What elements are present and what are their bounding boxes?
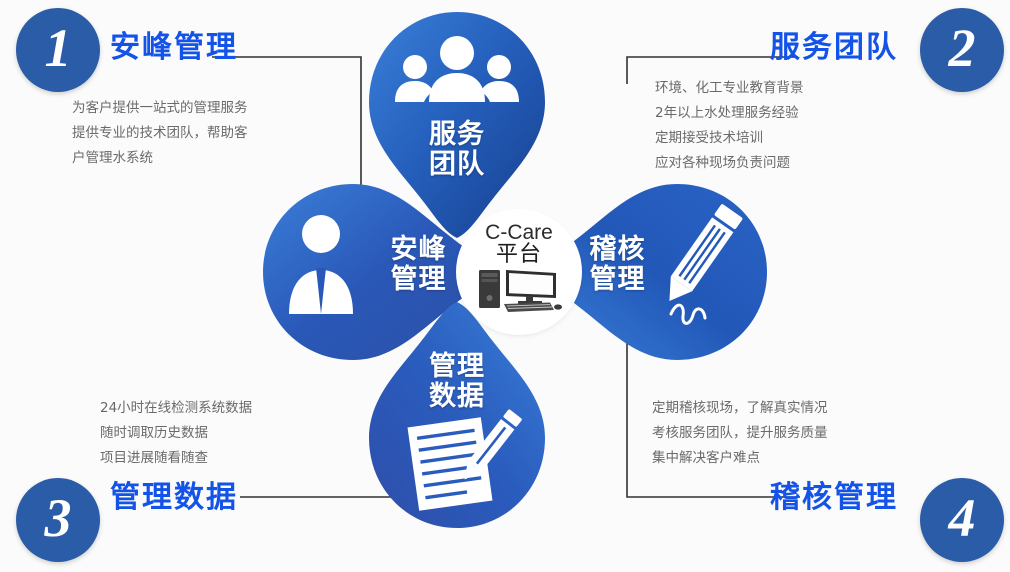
description-line: 考核服务团队，提升服务质量 [652, 421, 828, 446]
petal-label-audit-manage: 稽核 管理 [565, 235, 670, 295]
quadrant-description-1: 为客户提供一站式的管理服务 提供专业的技术团队，帮助客 户管理水系统 [72, 96, 248, 171]
petal-label-line2: 管理 [366, 265, 471, 295]
description-line: 项目进展随看随查 [100, 446, 252, 471]
quadrant-badge-number-2: 2 [949, 21, 976, 75]
quadrant-title-4: 稽核管理 [770, 472, 898, 516]
description-line: 环境、化工专业教育背景 [655, 76, 804, 101]
quadrant-badge-number-3: 3 [45, 491, 72, 545]
center-hub[interactable]: C-Care 平台 [460, 213, 578, 331]
description-line: 集中解决客户难点 [652, 446, 828, 471]
quadrant-badge-2[interactable]: 2 [920, 8, 1004, 92]
description-line: 定期稽核现场，了解真实情况 [652, 396, 828, 421]
quadrant-badge-number-1: 1 [45, 21, 72, 75]
quadrant-badge-3[interactable]: 3 [16, 478, 100, 562]
description-line: 户管理水系统 [72, 146, 248, 171]
hub-subtitle: 平台 [496, 243, 542, 266]
quadrant-badge-1[interactable]: 1 [16, 8, 100, 92]
petal-label-line2: 团队 [367, 150, 547, 180]
infographic-canvas: 服务 团队 [0, 0, 1010, 572]
description-line: 2年以上水处理服务经验 [655, 101, 804, 126]
petal-label-line1: 稽核 [565, 235, 670, 265]
description-line: 提供专业的技术团队，帮助客 [72, 121, 248, 146]
description-line: 应对各种现场负责问题 [655, 151, 804, 176]
quadrant-badge-number-4: 4 [949, 491, 976, 545]
petal-label-line1: 安峰 [366, 235, 471, 265]
petal-label-service-team: 服务 团队 [367, 120, 547, 180]
quadrant-description-4: 定期稽核现场，了解真实情况 考核服务团队，提升服务质量 集中解决客户难点 [652, 396, 828, 471]
quadrant-description-2: 环境、化工专业教育背景 2年以上水处理服务经验 定期接受技术培训 应对各种现场负… [655, 76, 804, 176]
petal-label-line1: 服务 [367, 120, 547, 150]
description-line: 为客户提供一站式的管理服务 [72, 96, 248, 121]
description-line: 随时调取历史数据 [100, 421, 252, 446]
petal-label-line2: 管理 [565, 265, 670, 295]
petal-label-manage-data: 管理 数据 [367, 352, 547, 412]
quadrant-title-3: 管理数据 [110, 472, 238, 516]
quadrant-description-3: 24小时在线检测系统数据 随时调取历史数据 项目进展随看随查 [100, 396, 252, 471]
quadrant-badge-4[interactable]: 4 [920, 478, 1004, 562]
petal-label-line2: 数据 [367, 382, 547, 412]
description-line: 定期接受技术培训 [655, 126, 804, 151]
description-line: 24小时在线检测系统数据 [100, 396, 252, 421]
petal-manage-data[interactable]: 管理 数据 [367, 300, 547, 530]
petal-label-anfeng-manage: 安峰 管理 [366, 235, 471, 295]
quadrant-title-1: 安峰管理 [110, 22, 238, 66]
hub-title: C-Care [485, 222, 553, 243]
petal-label-line1: 管理 [367, 352, 547, 382]
desktop-computer-icon [476, 267, 562, 313]
quadrant-title-2: 服务团队 [770, 22, 898, 66]
